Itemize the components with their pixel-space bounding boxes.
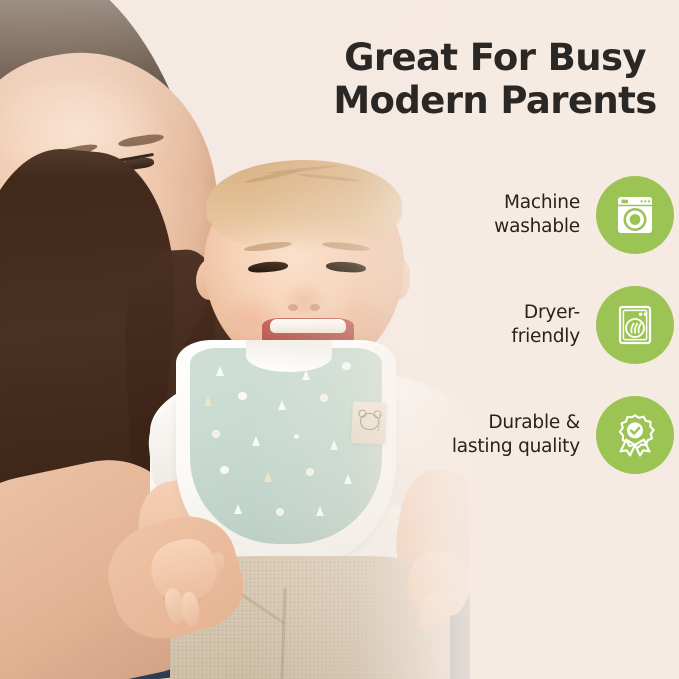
bib-motif-bear [238, 392, 247, 400]
feature-icon-badge [596, 176, 674, 254]
feature-icon-badge [596, 396, 674, 474]
bib-motif-bear [220, 466, 229, 474]
feature-item-dryer-friendly: Dryer- friendly [418, 270, 674, 380]
headline-line-2: Modern Parents [330, 79, 660, 122]
feature-label-line-2: washable [494, 215, 580, 239]
bib-motif-tree [234, 504, 242, 514]
feature-label-line-2: friendly [511, 325, 580, 349]
headline-line-1: Great For Busy [344, 36, 646, 79]
feature-label-line-1: Dryer- [511, 301, 580, 325]
dryer-icon [611, 301, 659, 349]
bib-motif-flower [212, 430, 220, 438]
feature-label-line-2: lasting quality [452, 435, 580, 459]
product-feature-banner: Great For Busy Modern Parents Machine wa… [0, 0, 679, 679]
washing-machine-icon [611, 191, 659, 239]
feature-label-line-1: Durable & [452, 411, 580, 435]
feature-list: Machine washable [418, 160, 674, 490]
feature-label: Dryer- friendly [511, 301, 596, 349]
feature-label: Durable & lasting quality [452, 411, 596, 459]
bib-motif-tree [204, 396, 212, 406]
quality-badge-icon [611, 411, 659, 459]
feature-panel: Great For Busy Modern Parents Machine wa… [330, 0, 679, 679]
feature-label: Machine washable [494, 191, 596, 239]
feature-label-line-1: Machine [494, 191, 580, 215]
feature-item-machine-washable: Machine washable [418, 160, 674, 270]
page-title: Great For Busy Modern Parents [330, 36, 660, 123]
bib-motif-tree [216, 366, 224, 376]
feature-item-durable-quality: Durable & lasting quality [418, 380, 674, 490]
feature-icon-badge [596, 286, 674, 364]
